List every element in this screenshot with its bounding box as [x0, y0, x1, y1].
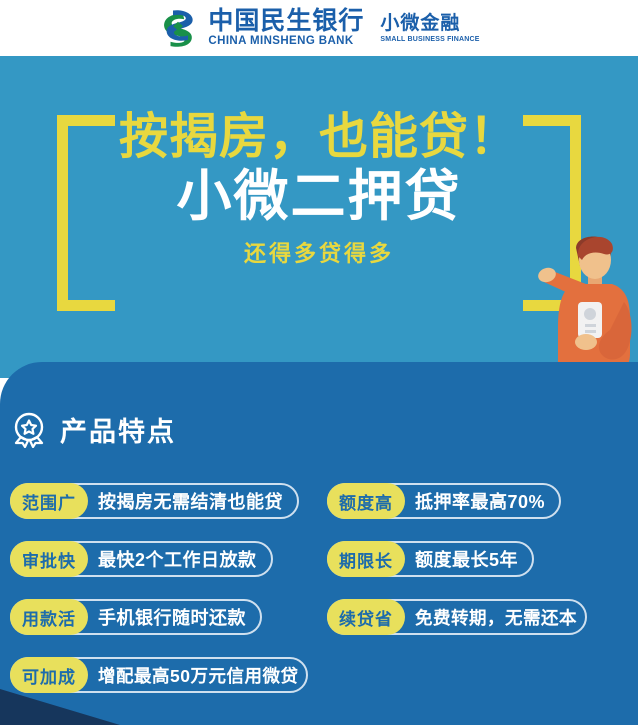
- list-item-label: 免费转期，无需还本: [405, 605, 585, 630]
- status-badge: 审批快: [10, 541, 88, 577]
- list-item-label: 最快2个工作日放款: [88, 546, 271, 572]
- minsheng-s-logo-icon: [158, 8, 198, 48]
- list-item[interactable]: 可加成 增配最高50万元信用微贷: [10, 657, 308, 693]
- promo-poster: 中国民生银行 CHINA MINSHENG BANK 小微金融 SMALL BU…: [0, 0, 638, 725]
- list-item-label: 手机银行随时还款: [88, 604, 260, 630]
- feature-cell: 审批快 最快2个工作日放款: [0, 530, 319, 588]
- feature-cell: 用款活 手机银行随时还款: [0, 588, 319, 646]
- feature-pill-grid: 范围广 按揭房无需结清也能贷 额度高 抵押率最高70% 审批快 最快2个工作日放…: [0, 472, 638, 704]
- status-badge: 额度高: [327, 483, 405, 519]
- hero-subheadline: 还得多贷得多: [244, 243, 394, 265]
- sub-brand-cn: 小微金融: [380, 14, 479, 33]
- list-item[interactable]: 范围广 按揭房无需结清也能贷: [10, 483, 299, 519]
- hero-product-name: 小微二押贷: [176, 167, 461, 226]
- bank-name-cn: 中国民生银行: [208, 9, 364, 34]
- list-item-label: 按揭房无需结清也能贷: [88, 488, 297, 514]
- feature-cell: 期限长 额度最长5年: [319, 530, 638, 588]
- feature-cell: 续贷省 免费转期，无需还本: [319, 588, 638, 646]
- star-badge-icon: [12, 412, 46, 448]
- header-logo-bar: 中国民生银行 CHINA MINSHENG BANK 小微金融 SMALL BU…: [0, 0, 638, 56]
- list-item-label: 增配最高50万元信用微贷: [88, 663, 306, 688]
- list-item[interactable]: 审批快 最快2个工作日放款: [10, 541, 273, 577]
- list-item-label: 抵押率最高70%: [405, 488, 559, 514]
- list-item-label: 额度最长5年: [405, 546, 532, 572]
- bank-name-block: 中国民生银行 CHINA MINSHENG BANK: [208, 9, 364, 48]
- hero-banner: 按揭房，也能贷！ 小微二押贷 还得多贷得多: [0, 56, 638, 378]
- status-badge: 用款活: [10, 599, 88, 635]
- list-item[interactable]: 额度高 抵押率最高70%: [327, 483, 561, 519]
- hero-headline: 按揭房，也能贷！: [119, 112, 519, 163]
- page-title: 产品特点: [60, 410, 176, 449]
- feature-cell: 范围广 按揭房无需结清也能贷: [0, 472, 319, 530]
- status-badge: 续贷省: [327, 599, 405, 635]
- person-pointing-holding-phone-illustration: [500, 226, 632, 378]
- status-badge: 范围广: [10, 483, 88, 519]
- list-item[interactable]: 用款活 手机银行随时还款: [10, 599, 262, 635]
- list-item[interactable]: 续贷省 免费转期，无需还本: [327, 599, 587, 635]
- sub-brand-block: 小微金融 SMALL BUSINESS FINANCE: [380, 14, 479, 43]
- status-badge: 可加成: [10, 657, 88, 693]
- sub-brand-en: SMALL BUSINESS FINANCE: [380, 36, 479, 43]
- features-heading: 产品特点: [12, 410, 176, 449]
- bank-name-en: CHINA MINSHENG BANK: [208, 36, 364, 48]
- status-badge: 期限长: [327, 541, 405, 577]
- list-item[interactable]: 期限长 额度最长5年: [327, 541, 534, 577]
- feature-cell: 额度高 抵押率最高70%: [319, 472, 638, 530]
- product-features-section: 产品特点 范围广 按揭房无需结清也能贷 额度高 抵押率最高70% 审批快 最快2…: [0, 362, 638, 725]
- feature-cell: 可加成 增配最高50万元信用微贷: [0, 646, 319, 704]
